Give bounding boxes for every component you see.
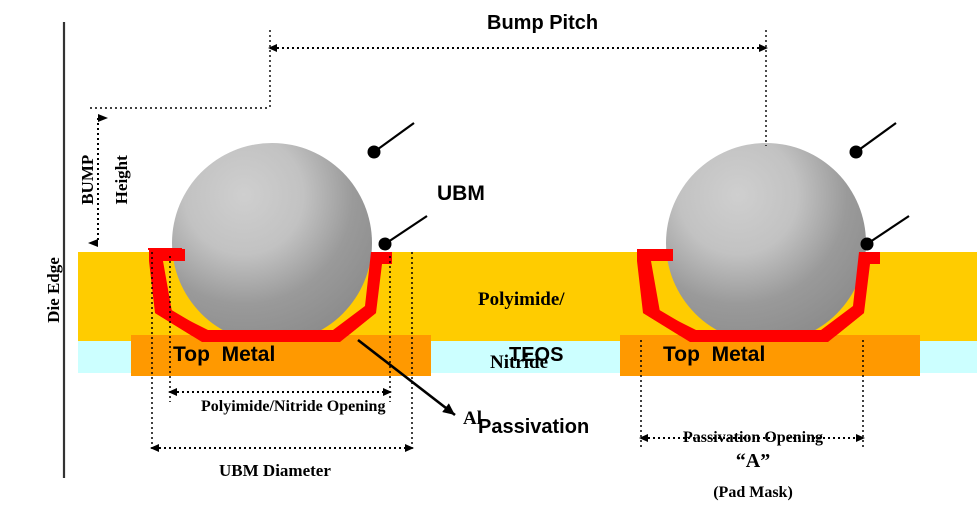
solder-bump-left: [172, 143, 372, 343]
polyimide-nitride-opening-label: Polyimide/Nitride Opening: [201, 398, 385, 416]
teos-label: TEOS: [509, 344, 563, 367]
die-edge-label: Die Edge: [44, 235, 64, 345]
passivation-fill-sliver-right: [880, 252, 977, 335]
passivation-opening-line2: (Pad Mask): [639, 484, 867, 502]
bump-pitch-label: Bump Pitch: [487, 12, 598, 35]
al-label: Al: [463, 408, 482, 430]
passivation-opening-line1: Passivation Opening: [639, 429, 867, 447]
ubm-label: UBM: [437, 182, 485, 206]
ubm-diameter-label: UBM Diameter: [219, 461, 331, 481]
passivation-label-line3: Passivation: [478, 416, 589, 438]
ubm-callout-left-upper: [368, 123, 415, 159]
top-metal-label-left: Top Metal: [173, 343, 275, 367]
passivation-label-line1: Polyimide/: [478, 289, 589, 310]
a-callout-label: “A”: [639, 450, 867, 473]
ubm-callout-right-lower: [861, 216, 910, 251]
ubm-callout-right-upper: [850, 123, 897, 159]
solder-bump-right: [666, 143, 866, 343]
bump-height-label-line2: Height: [112, 155, 131, 204]
top-metal-label-right: Top Metal: [663, 343, 765, 367]
ubm-callout-left-lower: [379, 216, 428, 251]
diagram-canvas: Bump Pitch BUMP Height Die Edge UBM Poly…: [0, 0, 977, 501]
bump-height-label: BUMP Height: [62, 124, 130, 244]
bump-height-label-line1: BUMP: [78, 155, 97, 205]
passivation-fill-sliver-left: [78, 252, 148, 335]
